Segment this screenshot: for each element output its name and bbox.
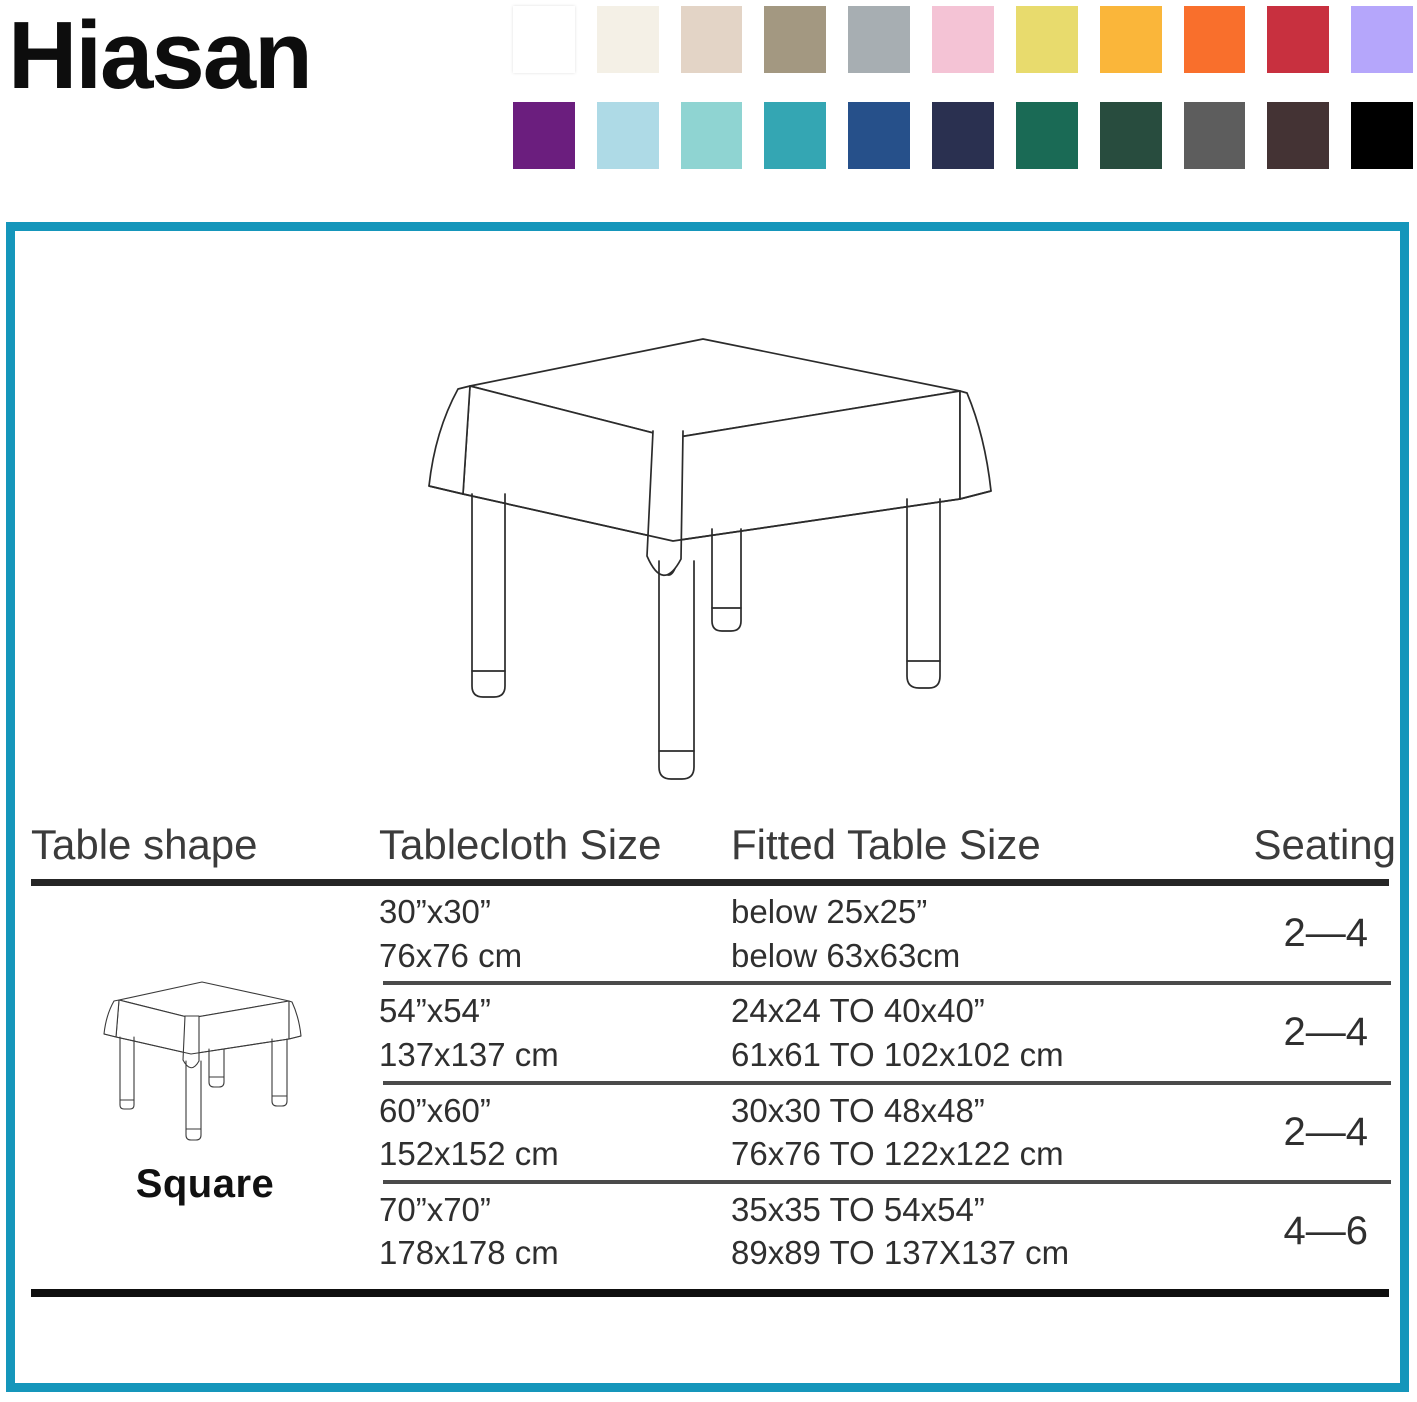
fitted-size-inches: 30x30 TO 48x48” xyxy=(731,1093,1201,1129)
cell-fitted-table-size: 30x30 TO 48x48” 76x76 TO 122x122 cm xyxy=(731,1085,1201,1180)
seating-value: 2—4 xyxy=(1201,911,1396,956)
table-header-row: Table shape Tablecloth Size Fitted Table… xyxy=(31,806,1396,866)
seating-value: 2—4 xyxy=(1201,1110,1396,1155)
cell-seating: 2—4 xyxy=(1201,1110,1396,1155)
swatch-purple[interactable] xyxy=(513,102,575,169)
swatch-red[interactable] xyxy=(1267,6,1329,73)
seating-value: 2—4 xyxy=(1201,1010,1396,1055)
cell-fitted-table-size: 24x24 TO 40x40” 61x61 TO 102x102 cm xyxy=(731,985,1201,1080)
swatch-white[interactable] xyxy=(513,6,575,73)
cell-tablecloth-size: 60”x60” 152x152 cm xyxy=(379,1085,731,1180)
swatch-row-bottom xyxy=(513,102,1413,169)
cloth-size-inches: 30”x30” xyxy=(379,894,731,930)
swatch-steel-blue[interactable] xyxy=(848,102,910,169)
swatch-dark-gray[interactable] xyxy=(1184,102,1246,169)
color-swatch-palette xyxy=(513,6,1413,174)
swatch-navy[interactable] xyxy=(932,102,994,169)
swatch-lavender[interactable] xyxy=(1351,6,1413,73)
swatch-turquoise[interactable] xyxy=(764,102,826,169)
swatch-black[interactable] xyxy=(1351,102,1413,169)
seating-value: 4—6 xyxy=(1201,1209,1396,1254)
cloth-size-inches: 60”x60” xyxy=(379,1093,731,1129)
swatch-row-top xyxy=(513,6,1413,73)
brand-logo: Hiasan xyxy=(8,8,311,104)
swatch-aqua[interactable] xyxy=(681,102,743,169)
swatch-green[interactable] xyxy=(1016,102,1078,169)
swatch-pink[interactable] xyxy=(932,6,994,73)
swatch-gray[interactable] xyxy=(848,6,910,73)
swatch-dark-green[interactable] xyxy=(1100,102,1162,169)
cell-tablecloth-size: 54”x54” 137x137 cm xyxy=(379,985,731,1080)
fitted-size-cm: 76x76 TO 122x122 cm xyxy=(731,1136,1201,1172)
table-row: 60”x60” 152x152 cm 30x30 TO 48x48” 76x76… xyxy=(31,1085,1396,1180)
size-table: Table shape Tablecloth Size Fitted Table… xyxy=(31,806,1396,1297)
cell-tablecloth-size: 30”x30” 76x76 cm xyxy=(379,886,731,981)
fitted-size-cm: below 63x63cm xyxy=(731,938,1201,974)
table-row: 30”x30” 76x76 cm below 25x25” below 63x6… xyxy=(31,886,1396,981)
swatch-orange[interactable] xyxy=(1184,6,1246,73)
cell-fitted-table-size: 35x35 TO 54x54” 89x89 TO 137X137 cm xyxy=(731,1184,1201,1279)
swatch-yellow[interactable] xyxy=(1016,6,1078,73)
cell-tablecloth-size: 70”x70” 178x178 cm xyxy=(379,1184,731,1279)
table-body: Square 30”x30” 76x76 cm below 25x25” bel… xyxy=(31,886,1396,1297)
swatch-amber[interactable] xyxy=(1100,6,1162,73)
cloth-size-cm: 76x76 cm xyxy=(379,938,731,974)
cloth-size-inches: 70”x70” xyxy=(379,1192,731,1228)
swatch-dark-brown[interactable] xyxy=(1267,102,1329,169)
fitted-size-inches: 35x35 TO 54x54” xyxy=(731,1192,1201,1228)
table-row: 70”x70” 178x178 cm 35x35 TO 54x54” 89x89… xyxy=(31,1184,1396,1279)
cell-seating: 2—4 xyxy=(1201,1010,1396,1055)
square-table-with-draped-tablecloth-illustration xyxy=(415,331,1015,801)
fitted-size-inches: below 25x25” xyxy=(731,894,1201,930)
table-row: 54”x54” 137x137 cm 24x24 TO 40x40” 61x61… xyxy=(31,985,1396,1080)
swatch-beige[interactable] xyxy=(681,6,743,73)
column-header-table-shape: Table shape xyxy=(31,824,379,866)
cell-fitted-table-size: below 25x25” below 63x63cm xyxy=(731,886,1201,981)
cloth-size-cm: 178x178 cm xyxy=(379,1235,731,1271)
cloth-size-inches: 54”x54” xyxy=(379,993,731,1029)
swatch-taupe[interactable] xyxy=(764,6,826,73)
size-chart-card: Table shape Tablecloth Size Fitted Table… xyxy=(6,222,1409,1392)
cloth-size-cm: 152x152 cm xyxy=(379,1136,731,1172)
table-footer-divider xyxy=(31,1289,1389,1297)
cloth-size-cm: 137x137 cm xyxy=(379,1037,731,1073)
column-header-tablecloth-size: Tablecloth Size xyxy=(379,824,731,866)
column-header-fitted-table-size: Fitted Table Size xyxy=(731,824,1201,866)
swatch-cream[interactable] xyxy=(597,6,659,73)
cell-seating: 4—6 xyxy=(1201,1209,1396,1254)
fitted-size-cm: 89x89 TO 137X137 cm xyxy=(731,1235,1201,1271)
fitted-size-cm: 61x61 TO 102x102 cm xyxy=(731,1037,1201,1073)
cell-seating: 2—4 xyxy=(1201,911,1396,956)
column-header-seating: Seating xyxy=(1201,824,1396,866)
header-divider xyxy=(31,879,1389,886)
fitted-size-inches: 24x24 TO 40x40” xyxy=(731,993,1201,1029)
swatch-light-blue[interactable] xyxy=(597,102,659,169)
